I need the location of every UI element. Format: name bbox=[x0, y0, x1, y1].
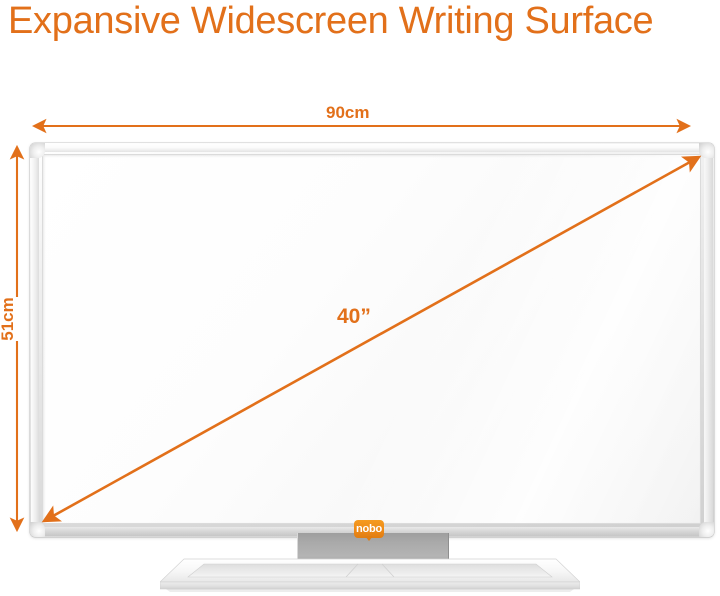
page-title: Expansive Widescreen Writing Surface bbox=[8, 0, 720, 44]
height-dimension-label: 51cm bbox=[0, 297, 23, 341]
writing-surface bbox=[42, 154, 701, 524]
frame-corner-bottom-right bbox=[699, 522, 714, 537]
frame-corner-top-right bbox=[699, 143, 714, 158]
frame-right-edge bbox=[704, 144, 713, 536]
surface-highlight bbox=[43, 155, 700, 523]
pen-tray bbox=[160, 556, 580, 596]
diagonal-dimension-label: 40” bbox=[330, 303, 378, 331]
brand-logo-text: nobo bbox=[354, 520, 384, 538]
frame-left-edge bbox=[31, 144, 39, 536]
frame-corner-top-left bbox=[30, 143, 45, 158]
whiteboard bbox=[30, 143, 714, 537]
frame-corner-bottom-left bbox=[30, 522, 45, 537]
product-infographic: Expansive Widescreen Writing Surface bbox=[0, 0, 720, 596]
width-dimension-label: 90cm bbox=[320, 103, 375, 123]
frame-top-edge bbox=[31, 144, 713, 152]
brand-logo: nobo bbox=[354, 520, 384, 542]
